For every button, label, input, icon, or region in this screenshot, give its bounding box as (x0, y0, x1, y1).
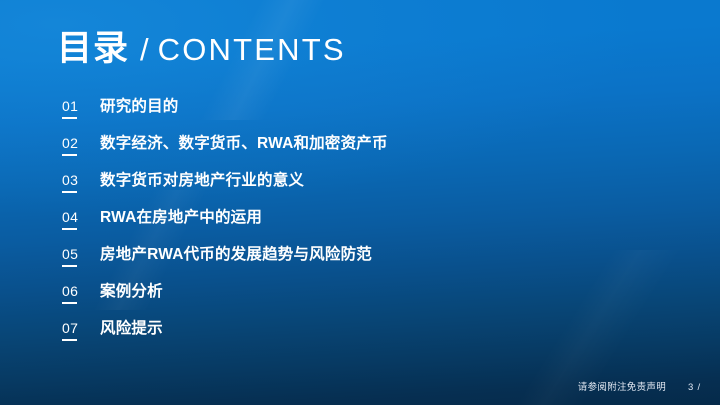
toc-number-underline (62, 265, 77, 267)
toc-entry-05[interactable]: 05 房地产RWA代币的发展趋势与风险防范 (62, 244, 662, 281)
toc-entry-03[interactable]: 03 数字货币对房地产行业的意义 (62, 170, 662, 207)
disclaimer-text: 请参阅附注免责声明 (578, 379, 666, 393)
toc-label: 案例分析 (100, 281, 163, 301)
toc-number-underline (62, 154, 77, 156)
toc-number-underline (62, 339, 77, 341)
page-number: 3 / (688, 382, 708, 393)
toc-number-group: 05 (62, 244, 100, 267)
toc-number-underline (62, 191, 77, 193)
toc-entry-04[interactable]: 04 RWA在房地产中的运用 (62, 207, 662, 244)
toc-label: 研究的目的 (100, 96, 179, 116)
toc-number-underline (62, 228, 77, 230)
slide-title: 目录 / CONTENTS (57, 31, 346, 66)
toc-label: 风险提示 (100, 318, 163, 338)
toc-number-group: 07 (62, 318, 100, 341)
table-of-contents-list: 01 研究的目的 02 数字经济、数字货币、RWA和加密资产币 03 数字货币对… (62, 96, 662, 355)
toc-label: 数字货币对房地产行业的意义 (100, 170, 304, 190)
toc-number: 04 (62, 210, 78, 225)
toc-label: 数字经济、数字货币、RWA和加密资产币 (100, 133, 388, 153)
slide-title-english: CONTENTS (158, 34, 346, 65)
toc-entry-07[interactable]: 07 风险提示 (62, 318, 662, 355)
toc-number-group: 02 (62, 133, 100, 156)
toc-number: 06 (62, 284, 78, 299)
toc-label: RWA在房地产中的运用 (100, 207, 262, 227)
toc-number-underline (62, 302, 77, 304)
toc-number: 01 (62, 99, 78, 114)
toc-number-group: 03 (62, 170, 100, 193)
toc-number: 05 (62, 247, 78, 262)
toc-number-group: 04 (62, 207, 100, 230)
slide-footer: 请参阅附注免责声明 3 / (578, 379, 708, 393)
toc-entry-06[interactable]: 06 案例分析 (62, 281, 662, 318)
toc-number: 02 (62, 136, 78, 151)
presentation-slide: 目录 / CONTENTS 01 研究的目的 02 数字经济、数字货币、RWA和… (0, 0, 720, 405)
toc-number-underline (62, 117, 77, 119)
toc-entry-01[interactable]: 01 研究的目的 (62, 96, 662, 133)
slide-title-chinese: 目录 (57, 31, 129, 66)
toc-entry-02[interactable]: 02 数字经济、数字货币、RWA和加密资产币 (62, 133, 662, 170)
toc-number-group: 06 (62, 281, 100, 304)
toc-number: 03 (62, 173, 78, 188)
toc-number-group: 01 (62, 96, 100, 119)
slide-title-separator: / (140, 34, 149, 65)
toc-number: 07 (62, 321, 78, 336)
toc-label: 房地产RWA代币的发展趋势与风险防范 (100, 244, 372, 264)
